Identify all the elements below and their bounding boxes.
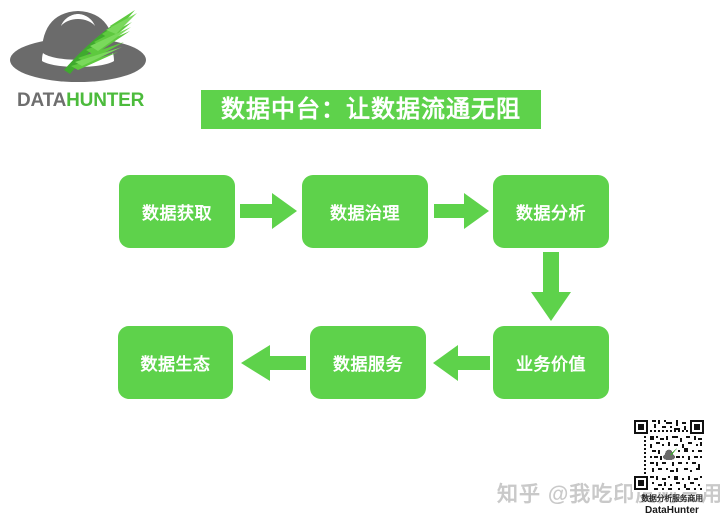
arrow-down-analyze-to-value	[530, 252, 572, 322]
qr-code-icon	[632, 418, 706, 492]
diagram-title: 数据中台：让数据流通无阻	[221, 98, 521, 122]
flow-box-label: 数据服务	[333, 350, 403, 375]
qr-caption-english: DataHunter	[630, 505, 714, 516]
flow-box-label: 数据生态	[141, 350, 211, 375]
arrow-right-govern-to-analyze	[434, 192, 490, 230]
arrow-left-service-to-ecology	[240, 344, 306, 382]
qr-caption-chinese: 数据分析服务商用	[630, 493, 714, 504]
flow-box-data-governance[interactable]: 数据治理	[302, 175, 428, 248]
brand-logo: DATAHUNTER	[6, 4, 156, 116]
cowboy-hat-with-feather-icon	[6, 4, 156, 86]
wordmark-hunter: HUNTER	[66, 90, 144, 111]
flow-box-label: 数据获取	[142, 199, 212, 224]
arrow-right-acquire-to-govern	[240, 192, 298, 230]
flow-box-data-acquisition[interactable]: 数据获取	[119, 175, 235, 248]
diagram-title-band: 数据中台：让数据流通无阻	[201, 90, 541, 129]
flow-box-data-ecology[interactable]: 数据生态	[118, 326, 233, 399]
flow-box-business-value[interactable]: 业务价值	[493, 326, 609, 399]
flow-box-label: 数据分析	[516, 199, 586, 224]
flow-box-data-analysis[interactable]: 数据分析	[493, 175, 609, 248]
qr-code-block: 数据分析服务商用 DataHunter	[630, 418, 714, 518]
brand-wordmark: DATAHUNTER	[17, 90, 144, 112]
diagram-canvas: DATAHUNTER 数据中台：让数据流通无阻 数据获取 数据治理 数据分析 数…	[0, 0, 720, 524]
flow-box-data-service[interactable]: 数据服务	[310, 326, 426, 399]
flow-box-label: 数据治理	[330, 199, 400, 224]
wordmark-data: DATA	[17, 90, 66, 111]
arrow-left-value-to-service	[432, 344, 490, 382]
flow-box-label: 业务价值	[516, 350, 586, 375]
